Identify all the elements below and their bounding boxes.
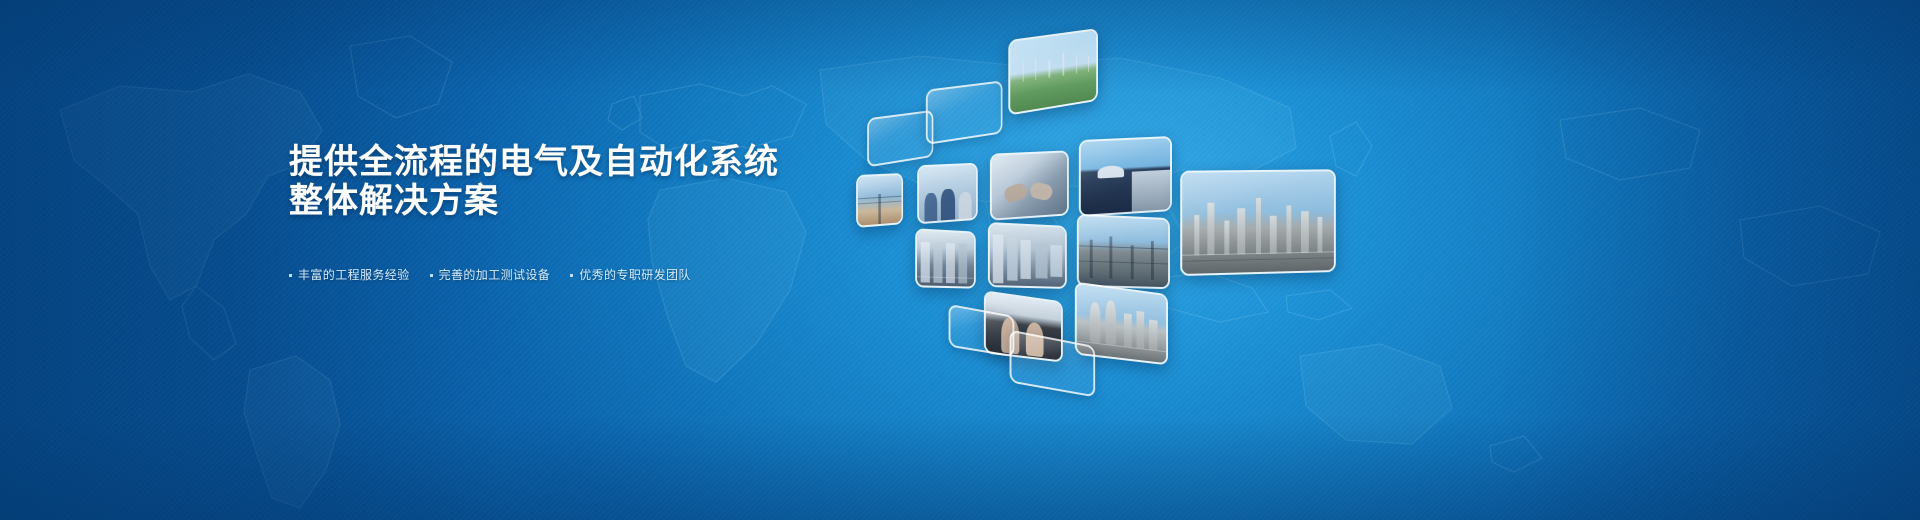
engineer-with-helmet-photo xyxy=(1081,138,1170,215)
bullet-dot-icon xyxy=(570,274,573,277)
tile-gloss xyxy=(928,83,1001,143)
handshake-photo xyxy=(992,152,1067,218)
tile-wind-farm[interactable] xyxy=(1008,28,1098,116)
tile-refinery[interactable] xyxy=(1180,169,1336,276)
turbine-detail xyxy=(1010,30,1096,113)
wind-turbine-farm-photo xyxy=(1010,30,1096,113)
feature-item-3: 优秀的专职研发团队 xyxy=(570,268,691,282)
feature-label: 丰富的工程服务经验 xyxy=(298,268,410,282)
bullet-dot-icon xyxy=(430,274,433,277)
headline-line-2: 整体解决方案 xyxy=(289,182,929,221)
feature-label: 优秀的专职研发团队 xyxy=(579,268,691,282)
industrial-process-plant-photo xyxy=(1079,216,1168,287)
hero-banner: 提供全流程的电气及自动化系统 整体解决方案 丰富的工程服务经验 完善的加工测试设… xyxy=(0,0,1920,520)
tile-handshake[interactable] xyxy=(990,150,1069,220)
banner-copy-block: 提供全流程的电气及自动化系统 整体解决方案 丰富的工程服务经验 完善的加工测试设… xyxy=(289,143,929,282)
headline-line-1: 提供全流程的电气及自动化系统 xyxy=(289,142,779,182)
page-title: 提供全流程的电气及自动化系统 整体解决方案 xyxy=(289,143,929,221)
helmet-detail xyxy=(1081,138,1170,215)
feature-item-1: 丰富的工程服务经验 xyxy=(289,268,410,282)
petrochemical-refinery-photo xyxy=(1182,171,1334,274)
refinery-detail xyxy=(1182,171,1334,274)
bullet-dot-icon xyxy=(289,274,292,277)
feature-label: 完善的加工测试设备 xyxy=(439,268,551,282)
room-perspective xyxy=(990,224,1065,287)
tile-empty-top-b[interactable] xyxy=(926,80,1003,145)
tile-gloss xyxy=(950,306,1012,355)
feature-list: 丰富的工程服务经验 完善的加工测试设备 优秀的专职研发团队 xyxy=(289,268,929,282)
tile-engineer[interactable] xyxy=(1079,136,1172,217)
tile-process-plant[interactable] xyxy=(1077,214,1170,289)
switchgear-room-photo xyxy=(990,224,1065,287)
pipe-structure xyxy=(1079,216,1168,287)
hands-detail xyxy=(992,152,1067,218)
feature-item-2: 完善的加工测试设备 xyxy=(430,268,551,282)
tile-switchgear-room[interactable] xyxy=(988,222,1067,289)
